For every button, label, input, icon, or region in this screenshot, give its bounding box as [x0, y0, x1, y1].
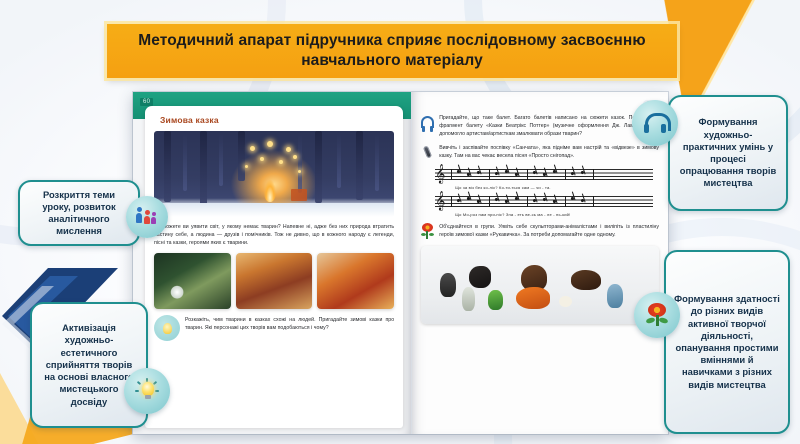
music-lyrics: Що Мо-роз нам при-ніс? Зна - еть ве-сь м…: [455, 212, 570, 217]
callout-creative-activity[interactable]: Формування здатності до різних видів акт…: [664, 250, 790, 434]
callout-aesthetic-perception[interactable]: Активізація художньо-естетичного сприйня…: [30, 302, 148, 428]
slide-title-banner: Методичний апарат підручника сприяє посл…: [107, 24, 677, 78]
snow-ground: [154, 203, 394, 217]
left-page-content-card: Зимова казка: [145, 106, 403, 428]
headphones-icon: [632, 100, 678, 146]
music-lyrics: Що за віз без ко-ліс? Ко-ти-ться сам — ч…: [455, 185, 551, 190]
left-page-task-row: Розкажіть, чим тварини в казках схожі на…: [154, 315, 394, 341]
callout-text: Активізація художньо-естетичного сприйня…: [40, 322, 138, 408]
left-page-body-text: Чи можете ви уявити світ, у якому немає …: [154, 223, 394, 247]
microphone-icon: [421, 144, 434, 161]
people-icon: [126, 196, 168, 238]
music-stave: 𝄞: [435, 167, 659, 189]
illustration-card: [236, 253, 313, 309]
treble-clef-icon: 𝄞: [435, 166, 445, 181]
flower-icon: [634, 292, 680, 338]
lightbulb-icon: [124, 368, 170, 414]
callout-artistic-skills[interactable]: Формування художньо-практичних умінь у п…: [668, 95, 788, 211]
right-page-block-song: Вивчіть і заспівайте поспівку «Санчата»,…: [421, 144, 659, 161]
lesson-title: Зимова казка: [160, 115, 394, 125]
plasticine-animals-photo: [421, 246, 659, 324]
flower-icon: [421, 223, 434, 240]
illustration-card: [317, 253, 394, 309]
callout-text: Формування здатності до різних видів акт…: [674, 293, 780, 391]
textbook-right-page: 61 Пригадайте, що таке балет. Багато бал…: [411, 92, 668, 434]
right-page-block-text: Об'єднайтеся в групи. Уявіть себе скульп…: [439, 223, 659, 239]
music-notation: 𝄞: [435, 167, 659, 216]
callout-text: Розкриття теми уроку, розвиток аналітичн…: [28, 189, 130, 238]
left-page-task-text: Розкажіть, чим тварини в казках схожі на…: [185, 316, 394, 332]
right-page-block-ballet: Пригадайте, що таке балет. Багато балеті…: [421, 114, 659, 138]
plasticine-figure: [469, 266, 491, 288]
lightbulb-icon: [154, 315, 180, 341]
left-page-number: 60: [140, 98, 153, 106]
callout-text: Формування художньо-практичних умінь у п…: [678, 116, 778, 189]
textbook-spread: 60 Зимова казка: [133, 92, 668, 434]
right-page-block-sculpting: Об'єднайтеся в групи. Уявіть себе скульп…: [421, 223, 659, 240]
plasticine-figure: [488, 290, 503, 310]
illustration-card: [154, 253, 231, 309]
winter-forest-illustration: [154, 131, 394, 217]
callout-lesson-topic[interactable]: Розкриття теми уроку, розвиток аналітичн…: [18, 180, 140, 246]
slide-title: Методичний апарат підручника сприяє посл…: [121, 31, 663, 72]
campfire-glow: [264, 180, 276, 202]
right-page-block-text: Вивчіть і заспівайте поспівку «Санчата»,…: [439, 144, 659, 160]
plasticine-figure: [607, 284, 623, 308]
presentation-slide: Методичний апарат підручника сприяє посл…: [0, 0, 800, 444]
headphones-icon: [421, 114, 434, 131]
plasticine-figure: [559, 296, 572, 307]
treble-clef-icon: 𝄞: [435, 193, 445, 208]
plasticine-figure: [516, 287, 550, 309]
plasticine-figure: [571, 270, 601, 290]
plasticine-figure: [462, 287, 475, 311]
textbook-left-page: 60 Зимова казка: [133, 92, 411, 434]
music-stave: 𝄞: [435, 194, 659, 216]
right-page-block-text: Пригадайте, що таке балет. Багато балеті…: [439, 114, 659, 138]
plasticine-figure: [440, 273, 456, 297]
forest-hut: [291, 189, 307, 201]
illustration-card-row: [154, 253, 394, 309]
